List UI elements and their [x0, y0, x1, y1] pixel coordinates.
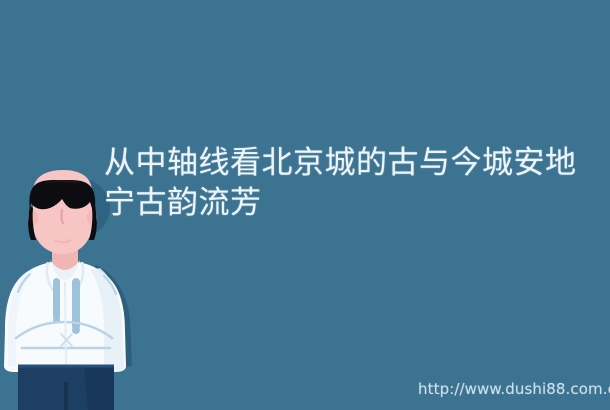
trousers [18, 366, 114, 410]
watermark-url: http://www.dushi88.com.cn [418, 379, 610, 399]
image-canvas: 从中轴线看北京城的古与今城安地宁古韵流芳 http://www.dushi88.… [0, 0, 610, 410]
page-title: 从中轴线看北京城的古与今城安地宁古韵流芳 [104, 143, 586, 223]
